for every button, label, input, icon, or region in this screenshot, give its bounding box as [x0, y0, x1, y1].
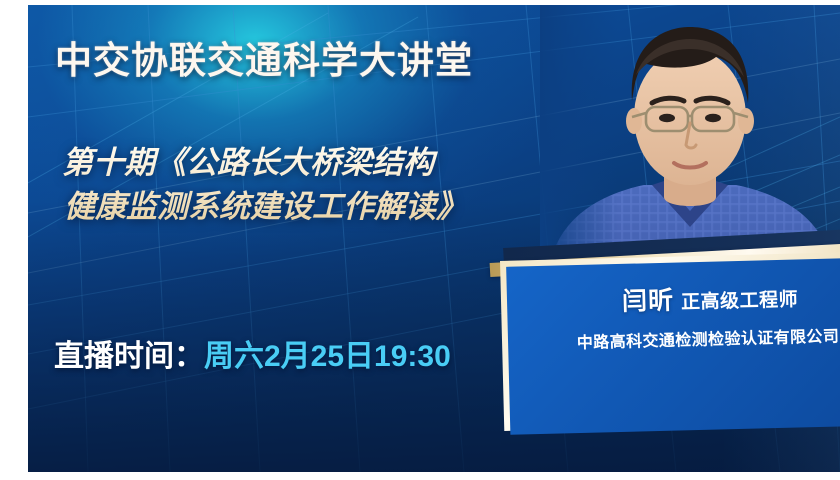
speaker-name-row: 闫昕 正高级工程师 — [576, 277, 799, 319]
speaker-name: 闫昕 — [622, 281, 675, 318]
page-title: 中交协联交通科学大讲堂 — [55, 30, 473, 84]
speaker-title: 正高级工程师 — [681, 284, 799, 314]
live-time: 直播时间：周六2月25日19:30 — [54, 331, 451, 375]
subtitle-line-1: 第十期《公路长大桥梁结构 — [62, 141, 592, 185]
speaker-organization: 中路高科交通检测检验认证有限公司 — [537, 322, 840, 354]
live-time-label: 直播时间： — [54, 340, 204, 373]
panel-content: 闫昕 正高级工程师 中路高科交通检测检验认证有限公司 — [500, 252, 840, 431]
episode-subtitle: 第十期《公路长大桥梁结构 健康监测系统建设工作解读》 — [62, 141, 592, 229]
live-time-value: 周六2月25日19:30 — [204, 340, 451, 373]
poster-artwork: 中交协联交通科学大讲堂 第十期《公路长大桥梁结构 健康监测系统建设工作解读》 直… — [28, 5, 840, 472]
speaker-info-panel: 闫昕 正高级工程师 中路高科交通检测检验认证有限公司 — [500, 252, 840, 431]
livestream-poster: 中交协联交通科学大讲堂 第十期《公路长大桥梁结构 健康监测系统建设工作解读》 直… — [0, 0, 840, 480]
subtitle-line-2: 健康监测系统建设工作解读》 — [62, 185, 592, 229]
